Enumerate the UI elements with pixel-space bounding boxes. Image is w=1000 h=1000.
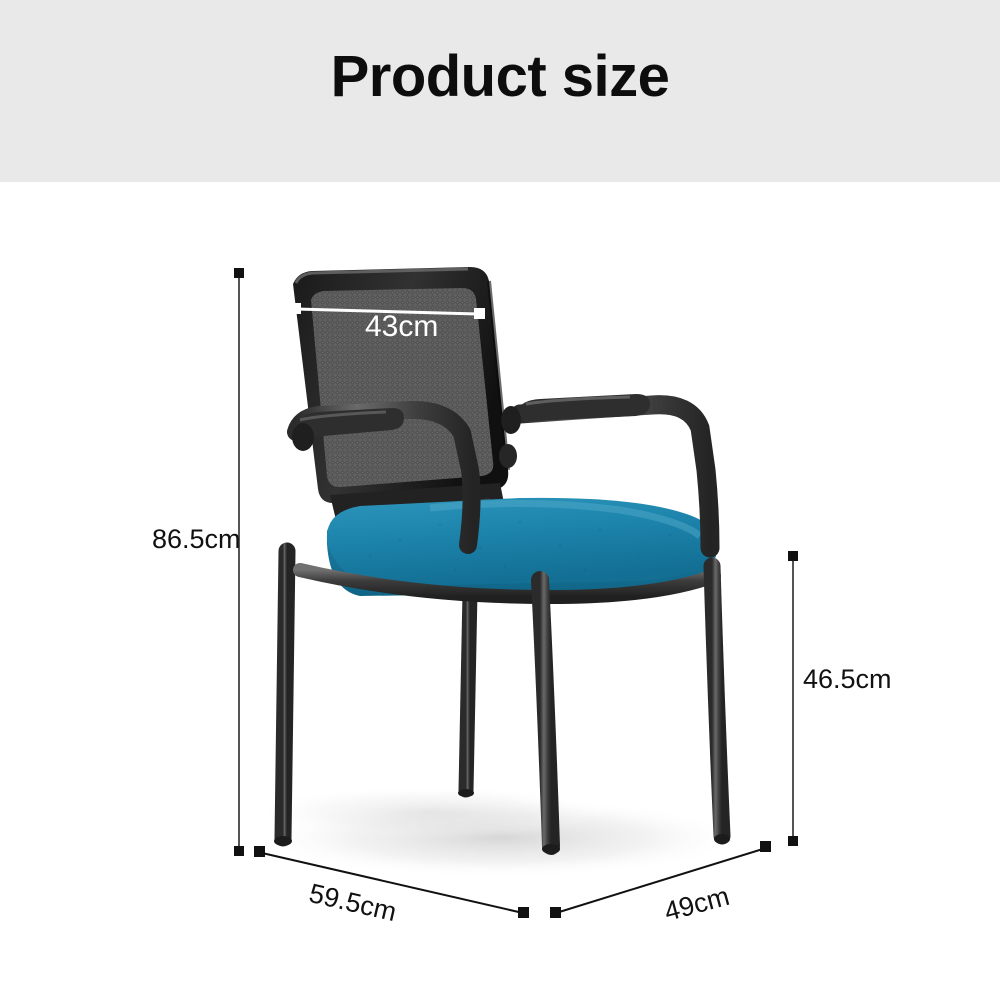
dimension-seat-height xyxy=(788,551,798,846)
dimension-width xyxy=(550,841,771,918)
dimension-label-seat-height: 46.5cm xyxy=(803,664,892,695)
dimension-overall-height xyxy=(234,268,244,856)
dimension-overlay xyxy=(0,0,1000,1000)
dimension-label-backrest-width: 43cm xyxy=(365,310,438,344)
dimension-label-overall-height: 86.5cm xyxy=(152,524,241,555)
